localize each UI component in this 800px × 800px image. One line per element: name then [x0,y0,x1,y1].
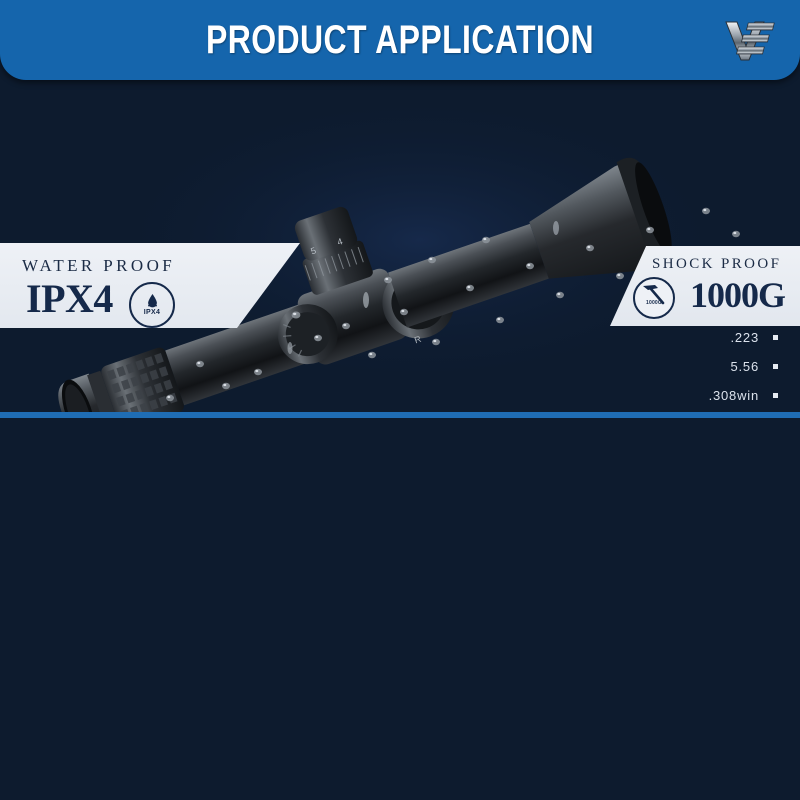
page-title: PRODUCT APPLICATION [80,0,720,80]
caliber-list: .223 5.56 .308win 7.62 [709,330,778,415]
applications-section: APPLICATIONS DESIGNED FOR AR/AK PLATEFOR… [0,418,800,800]
caliber-item: 5.56 [709,359,778,374]
water-droplet-icon [147,294,158,308]
shockproof-value: 1000G [690,274,785,316]
top-feature-section: 15 5 4 [0,80,800,415]
caliber-item: .308win [709,388,778,403]
waterproof-value: IPX4 [26,275,113,322]
square-bullet-icon [773,335,778,340]
header-bar: PRODUCT APPLICATION [0,0,800,80]
ve-logo-icon [724,16,778,64]
caliber-label: 5.56 [730,359,759,374]
hammer-badge-label: 1000G [635,300,673,306]
ipx4-badge-label: IPX4 [144,309,160,316]
caliber-label: .223 [730,330,759,345]
section-divider [0,412,800,418]
waterproof-title: WATER PROOF [22,256,175,276]
caliber-item: .223 [709,330,778,345]
square-bullet-icon [773,393,778,398]
hammer-badge: 1000G [633,277,675,319]
shockproof-title: SHOCK PROOF [652,256,781,273]
square-bullet-icon [773,364,778,369]
ipx4-badge: IPX4 [129,282,175,328]
caliber-label: .308win [709,388,759,403]
product-application-infographic: PRODUCT APPLICATION [0,0,800,800]
